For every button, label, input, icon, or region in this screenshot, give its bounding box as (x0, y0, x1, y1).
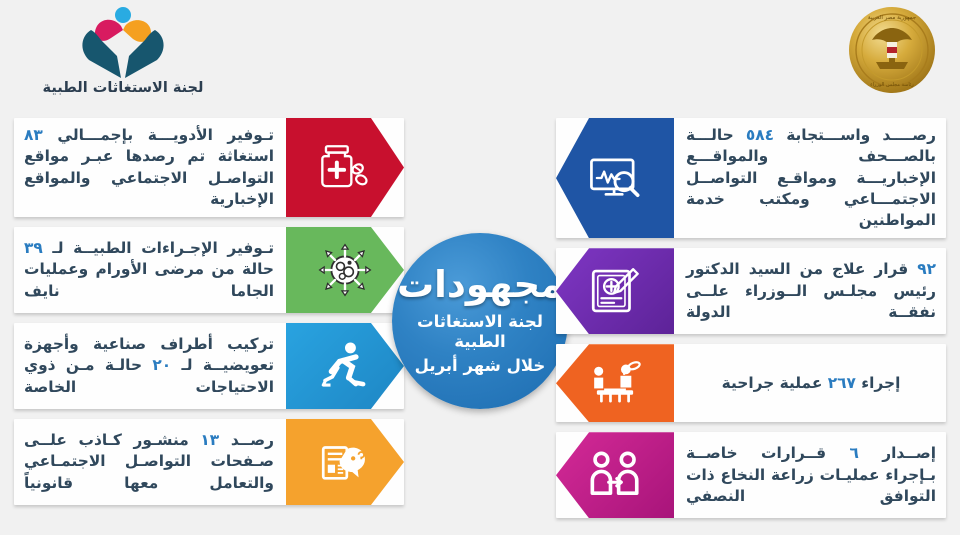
bone-marrow-transplant-icon (586, 446, 644, 504)
egypt-government-seal: جمهورية مصر العربية رئاسة مجلس الوزراء (846, 4, 938, 96)
stat-card-treatment-decisions[interactable]: ٩٢ قرار علاج من السيد الدكتور رئيس مجلـس… (556, 248, 946, 334)
badge-marrow-transplant (556, 432, 674, 518)
stat-number: ٦ (849, 444, 858, 462)
badge-medicine (286, 118, 404, 217)
badge-prosthetics (286, 323, 404, 409)
stat-number: ٨٣ (24, 126, 43, 144)
text-after: حالة من مرضى الأورام وعمليات الجاما نايف (24, 260, 274, 299)
medical-relief-committee-logo: لجنة الاستغاثات الطبية (18, 6, 228, 106)
stat-number: ٢٦٧ (828, 374, 856, 392)
text-before: رصــد (219, 431, 274, 449)
prosthetic-runner-icon (316, 337, 374, 395)
badge-treatment-decisions (556, 248, 674, 334)
text-before: إصــدار (859, 444, 936, 462)
text-after: قرار علاج من السيد الدكتور رئيس مجلـس ال… (686, 260, 936, 321)
stat-number: ٢٠ (152, 356, 171, 374)
heart-hands-logo-mark (71, 6, 175, 78)
stat-card-prosthetics[interactable]: تركيب أطراف صناعية وأجهزة تعويضيــة لـ ٢… (14, 323, 404, 409)
badge-monitoring (556, 118, 674, 238)
stat-card-monitoring[interactable]: رصــــد واســـتجابة ٥٨٤ حالـــة بالصـــح… (556, 118, 946, 238)
text-before: تـوفير الإجـراءات الطبيــة لـ (43, 239, 274, 257)
text-before: رصــــد واســـتجابة (774, 126, 936, 144)
hub-title: مجهودات (397, 266, 563, 303)
stat-number: ٣٩ (24, 239, 43, 257)
infographic-canvas: لجنة الاستغاثات الطبية جمهورية مصر العرب… (0, 0, 960, 535)
stat-text-surgeries: إجراء ٢٦٧ عملية جراحية (674, 344, 946, 422)
badge-surgeries (556, 344, 674, 422)
text-before: إجراء (856, 374, 900, 392)
hub-subtitle-2: خلال شهر أبريل (415, 356, 546, 376)
badge-oncology (286, 227, 404, 313)
text-after: استغاثة تم رصدها عبـر مواقع التواصـل الا… (24, 147, 274, 208)
monitor-magnifier-icon (586, 149, 644, 207)
stat-text-fake-news: رصــد ١٣ منشـور كـاذب علــى صـفحات التوا… (14, 419, 286, 505)
stat-card-fake-news[interactable]: رصــد ١٣ منشـور كـاذب علــى صـفحات التوا… (14, 419, 404, 505)
fake-news-speech-icon (316, 433, 374, 491)
hub-subtitle-1: لجنة الاستغاثات الطبية (392, 312, 568, 352)
stat-number: ١٣ (200, 431, 219, 449)
stat-card-marrow-transplant[interactable]: إصــدار ٦ قــرارات خاصــة بـإجراء عمليـا… (556, 432, 946, 518)
stat-card-surgeries[interactable]: إجراء ٢٦٧ عملية جراحية (556, 344, 946, 422)
stat-text-prosthetics: تركيب أطراف صناعية وأجهزة تعويضيــة لـ ٢… (14, 323, 286, 409)
surgery-operation-icon (586, 354, 644, 412)
left-stat-column: تـوفير الأدويـــة بإجمـــالي ٨٣ استغاثة … (14, 118, 404, 515)
stat-number: ٥٨٤ (746, 126, 774, 144)
medical-report-pen-icon (586, 262, 644, 320)
tumor-cell-icon (316, 241, 374, 299)
text-before: تـوفير الأدويـــة بإجمـــالي (43, 126, 274, 144)
stat-text-monitoring: رصــــد واســـتجابة ٥٨٤ حالـــة بالصـــح… (674, 118, 946, 238)
stat-text-treatment-decisions: ٩٢ قرار علاج من السيد الدكتور رئيس مجلـس… (674, 248, 946, 334)
stat-text-medicine: تـوفير الأدويـــة بإجمـــالي ٨٣ استغاثة … (14, 118, 286, 217)
svg-text:رئاسة مجلس الوزراء: رئاسة مجلس الوزراء (870, 82, 914, 88)
stat-number: ٩٢ (917, 260, 936, 278)
logo-caption: لجنة الاستغاثات الطبية (43, 80, 204, 96)
stat-card-medicine[interactable]: تـوفير الأدويـــة بإجمـــالي ٨٣ استغاثة … (14, 118, 404, 217)
medicine-bottle-pills-icon (316, 139, 374, 197)
stat-text-marrow-transplant: إصــدار ٦ قــرارات خاصــة بـإجراء عمليـا… (674, 432, 946, 518)
svg-text:جمهورية مصر العربية: جمهورية مصر العربية (868, 15, 916, 21)
central-hub: مجهودات لجنة الاستغاثات الطبية خلال شهر … (392, 233, 568, 409)
right-stat-column: رصــــد واســـتجابة ٥٨٤ حالـــة بالصـــح… (556, 118, 946, 528)
text-after: عملية جراحية (722, 374, 828, 392)
stat-text-oncology: تـوفير الإجـراءات الطبيــة لـ ٣٩ حالة من… (14, 227, 286, 313)
badge-fake-news (286, 419, 404, 505)
stat-card-oncology[interactable]: تـوفير الإجـراءات الطبيــة لـ ٣٩ حالة من… (14, 227, 404, 313)
